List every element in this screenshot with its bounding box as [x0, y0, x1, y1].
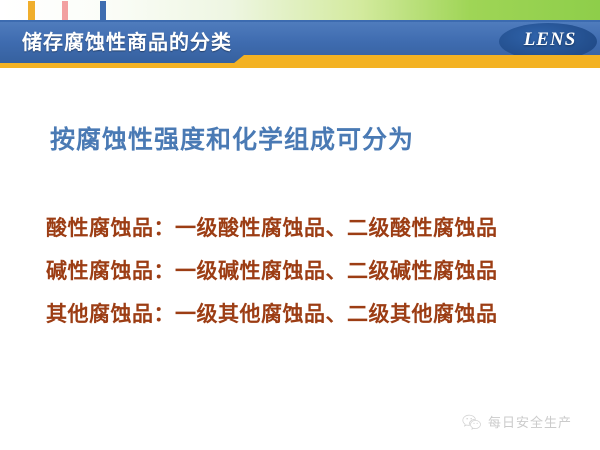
top-decorative-strip	[0, 0, 600, 22]
strip-tick-blue	[100, 1, 106, 21]
watermark-text: 每日安全生产	[488, 412, 572, 431]
list-item: 其他腐蚀品：一级其他腐蚀品、二级其他腐蚀品	[46, 293, 566, 336]
slide-canvas: 储存腐蚀性商品的分类 LENS 按腐蚀性强度和化学组成可分为 酸性腐蚀品：一级酸…	[0, 0, 600, 450]
list-item: 碱性腐蚀品：一级碱性腐蚀品、二级碱性腐蚀品	[46, 250, 566, 293]
strip-tick-pink	[62, 1, 68, 21]
list-item: 酸性腐蚀品：一级酸性腐蚀品、二级酸性腐蚀品	[46, 207, 566, 250]
classification-list: 酸性腐蚀品：一级酸性腐蚀品、二级酸性腐蚀品 碱性腐蚀品：一级碱性腐蚀品、二级碱性…	[46, 207, 566, 336]
header-accent-cap	[0, 68, 600, 70]
watermark: 每日安全生产	[462, 412, 572, 431]
strip-tick-orange	[28, 1, 35, 21]
lens-logo-text: LENS	[510, 29, 590, 51]
page-title: 储存腐蚀性商品的分类	[22, 26, 232, 60]
section-heading: 按腐蚀性强度和化学组成可分为	[50, 124, 414, 156]
wechat-icon	[462, 414, 482, 430]
